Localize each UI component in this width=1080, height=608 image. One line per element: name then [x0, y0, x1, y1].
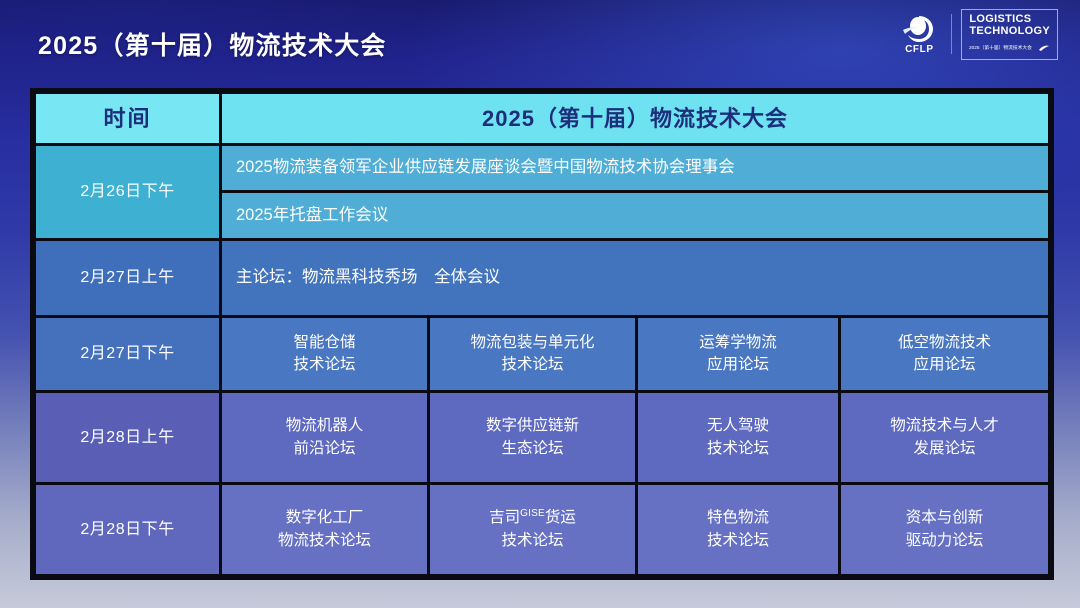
- session-cell[interactable]: 主论坛：物流黑科技秀场 全体会议: [222, 241, 1048, 315]
- gise-prefix: 吉司: [489, 509, 520, 526]
- page-title: 2025（第十届）物流技术大会: [38, 26, 387, 62]
- brand-lockup: CFLP LOGISTICS TECHNOLOGY 2025（第十届）物流技术大…: [896, 9, 1058, 59]
- session-cell[interactable]: 2025年托盘工作会议: [222, 193, 1048, 238]
- conference-schedule-table: 时间 2025（第十届）物流技术大会 2月26日下午 2025物流装备领军企业供…: [30, 88, 1054, 580]
- time-cell-feb28-am: 2月28日上午: [36, 393, 219, 482]
- forum-cell[interactable]: 物流包装与单元化 技术论坛: [430, 318, 635, 390]
- logistics-line-2: TECHNOLOGY: [969, 25, 1050, 37]
- table-row: 2月27日下午 智能仓储 技术论坛 物流包装与单元化 技术论坛 运筹学物流 应用…: [36, 318, 1048, 390]
- cflp-wordmark: CFLP: [905, 45, 934, 55]
- logistics-subline-text: 2025（第十届）物流技术大会: [969, 45, 1032, 51]
- forum-label: 数字供应链新 生态论坛: [430, 409, 635, 466]
- table-row: 2月27日上午 主论坛：物流黑科技秀场 全体会议: [36, 241, 1048, 315]
- forum-cell[interactable]: 数字化工厂 物流技术论坛: [222, 485, 427, 574]
- forum-cell[interactable]: 低空物流技术 应用论坛: [841, 318, 1048, 390]
- table-row: 2月28日上午 物流机器人 前沿论坛 数字供应链新 生态论坛 无人驾驶 技术论坛…: [36, 393, 1048, 482]
- forum-label: 数字化工厂 物流技术论坛: [222, 501, 427, 558]
- time-cell-feb26-pm: 2月26日下午: [36, 146, 219, 238]
- forum-label-gise: 吉司GISE货运 技术论坛: [430, 501, 635, 558]
- forum-label: 运筹学物流 应用论坛: [638, 326, 838, 383]
- header-cell-title: 2025（第十届）物流技术大会: [222, 94, 1048, 143]
- time-label: 2月27日上午: [36, 241, 219, 315]
- session-label: 2025年托盘工作会议: [222, 193, 1048, 238]
- session-cell[interactable]: 2025物流装备领军企业供应链发展座谈会暨中国物流技术协会理事会: [222, 146, 1048, 190]
- table-row: 2月28日下午 数字化工厂 物流技术论坛 吉司GISE货运 技术论坛 特色物流 …: [36, 485, 1048, 574]
- forum-cell-gise[interactable]: 吉司GISE货运 技术论坛: [430, 485, 635, 574]
- time-label: 2月28日下午: [36, 485, 219, 574]
- logistics-subline: 2025（第十届）物流技术大会: [969, 39, 1050, 57]
- forum-cell[interactable]: 资本与创新 驱动力论坛: [841, 485, 1048, 574]
- forum-label: 无人驾驶 技术论坛: [638, 409, 838, 466]
- header-cell-time: 时间: [36, 94, 219, 143]
- gise-line2: 技术论坛: [501, 532, 563, 549]
- forum-cell[interactable]: 运筹学物流 应用论坛: [638, 318, 838, 390]
- forum-label: 特色物流 技术论坛: [638, 501, 838, 558]
- forum-label: 低空物流技术 应用论坛: [841, 326, 1048, 383]
- forum-cell[interactable]: 物流技术与人才 发展论坛: [841, 393, 1048, 482]
- forum-cell[interactable]: 物流机器人 前沿论坛: [222, 393, 427, 482]
- forum-cell[interactable]: 数字供应链新 生态论坛: [430, 393, 635, 482]
- slide-header: 2025（第十届）物流技术大会 CFLP LOGISTICS TECHNOLOG…: [0, 0, 1080, 84]
- session-label: 2025物流装备领军企业供应链发展座谈会暨中国物流技术协会理事会: [222, 146, 1048, 190]
- forum-label: 物流机器人 前沿论坛: [222, 409, 427, 466]
- header-title-label: 2025（第十届）物流技术大会: [222, 97, 1048, 141]
- time-cell-feb28-pm: 2月28日下午: [36, 485, 219, 574]
- logistics-technology-badge: LOGISTICS TECHNOLOGY 2025（第十届）物流技术大会: [961, 9, 1058, 60]
- time-label: 2月26日下午: [36, 146, 219, 238]
- time-label: 2月27日下午: [36, 318, 219, 390]
- logistics-line-1: LOGISTICS: [969, 13, 1031, 25]
- forum-label: 智能仓储 技术论坛: [222, 326, 427, 383]
- gise-superscript: GISE: [520, 508, 545, 519]
- time-cell-feb27-pm: 2月27日下午: [36, 318, 219, 390]
- header-time-label: 时间: [36, 94, 219, 143]
- forum-cell[interactable]: 智能仓储 技术论坛: [222, 318, 427, 390]
- forum-cell[interactable]: 特色物流 技术论坛: [638, 485, 838, 574]
- time-cell-feb27-am: 2月27日上午: [36, 241, 219, 315]
- table-row: 2月26日下午 2025物流装备领军企业供应链发展座谈会暨中国物流技术协会理事会: [36, 146, 1048, 190]
- cflp-logo-icon: CFLP: [896, 10, 942, 58]
- forum-cell[interactable]: 无人驾驶 技术论坛: [638, 393, 838, 482]
- gise-suffix: 货运: [545, 509, 576, 526]
- brand-divider: [951, 14, 952, 54]
- session-label: 主论坛：物流黑科技秀场 全体会议: [222, 260, 1048, 296]
- forum-label: 资本与创新 驱动力论坛: [841, 501, 1048, 558]
- swoosh-icon: [1039, 39, 1049, 57]
- time-label: 2月28日上午: [36, 393, 219, 482]
- forum-label: 物流技术与人才 发展论坛: [841, 409, 1048, 466]
- forum-label: 物流包装与单元化 技术论坛: [430, 326, 635, 383]
- table-header-row: 时间 2025（第十届）物流技术大会: [36, 94, 1048, 143]
